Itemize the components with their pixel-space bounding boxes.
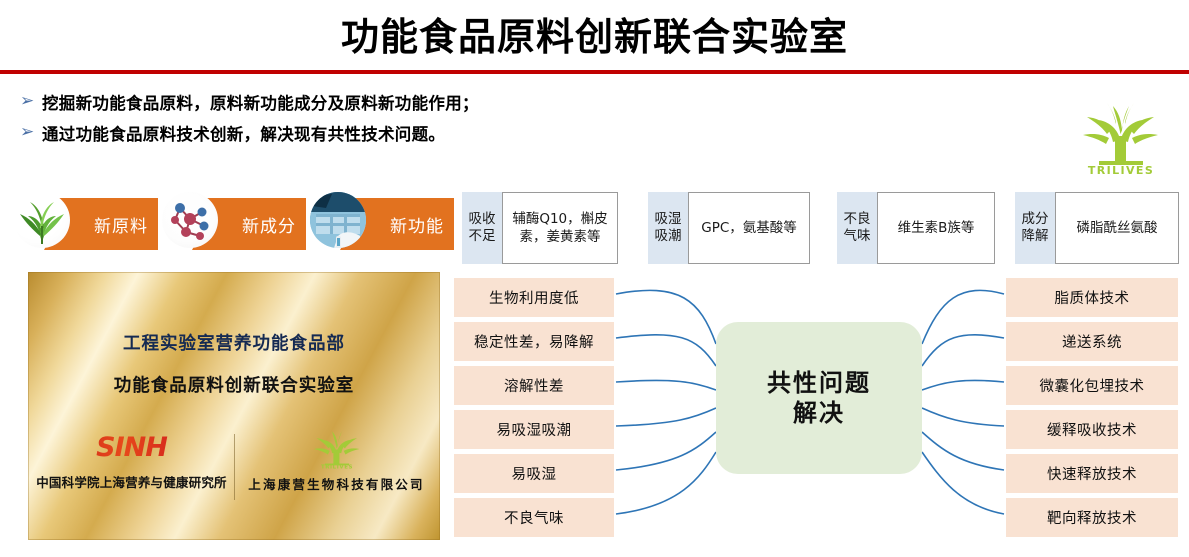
issue-box-absorption: 吸收不足 辅酶Q10，槲皮素，姜黄素等: [462, 192, 618, 264]
trilives-wordmark: TRILIVES: [1088, 164, 1154, 176]
solution-pill[interactable]: 快速释放技术: [1006, 454, 1178, 493]
solution-pill[interactable]: 微囊化包埋技术: [1006, 366, 1178, 405]
center-node-line-1: 共性问题: [767, 368, 871, 398]
issue-label: 不良气味: [837, 192, 877, 264]
problem-pill[interactable]: 稳定性差，易降解: [454, 322, 614, 361]
solution-pill[interactable]: 缓释吸收技术: [1006, 410, 1178, 449]
issue-label: 成分降解: [1015, 192, 1055, 264]
solution-pill[interactable]: 靶向释放技术: [1006, 498, 1178, 537]
center-node-line-2: 解决: [793, 398, 845, 428]
bullet-text: 挖掘新功能食品原料，原料新功能成分及原料新功能作用；: [42, 90, 479, 114]
trilives-tree-logo: TRILIVES: [1073, 100, 1169, 176]
issue-value: 磷脂酰丝氨酸: [1055, 192, 1179, 264]
issue-value: 辅酶Q10，槲皮素，姜黄素等: [502, 192, 618, 264]
problem-pill[interactable]: 不良气味: [454, 498, 614, 537]
issue-label: 吸收不足: [462, 192, 502, 264]
problem-pill[interactable]: 溶解性差: [454, 366, 614, 405]
org-name: 上海康营生物科技有限公司: [239, 474, 435, 493]
center-node[interactable]: 共性问题 解决: [716, 322, 922, 474]
laboratory-icon: [310, 192, 366, 248]
title-divider-rule: [0, 70, 1189, 74]
chevron-right-icon: ➢: [20, 124, 42, 141]
page-title: 功能食品原料创新联合实验室: [0, 6, 1189, 61]
problem-pill[interactable]: 易吸湿吸潮: [454, 410, 614, 449]
plaque-organizations: SINH 中国科学院上海营养与健康研究所: [28, 430, 440, 520]
trilives-wordmark: TRILIVES: [320, 464, 352, 469]
plaque-divider: [234, 434, 235, 500]
solution-pill[interactable]: 递送系统: [1006, 322, 1178, 361]
banner-new-ingredient[interactable]: 新成分: [162, 192, 310, 256]
laboratory-plaque: 工程实验室营养功能食品部 功能食品原料创新联合实验室 SINH 中国科学院上海营…: [28, 272, 440, 540]
molecule-icon: [162, 192, 218, 248]
banner-new-function[interactable]: 新功能: [310, 192, 458, 256]
org-trilives: TRILIVES 上海康营生物科技有限公司: [239, 430, 435, 493]
org-name: 中国科学院上海营养与健康研究所: [34, 472, 230, 491]
issue-value: GPC，氨基酸等: [688, 192, 810, 264]
problem-pill[interactable]: 易吸湿: [454, 454, 614, 493]
solution-pill[interactable]: 脂质体技术: [1006, 278, 1178, 317]
issue-box-hygroscopic: 吸湿吸潮 GPC，氨基酸等: [648, 192, 810, 264]
issue-box-degradation: 成分降解 磷脂酰丝氨酸: [1015, 192, 1179, 264]
issue-box-odor: 不良气味 维生素B族等: [837, 192, 995, 264]
bullet-text: 通过功能食品原料技术创新，解决现有共性技术问题。: [42, 121, 445, 145]
problem-pill[interactable]: 生物利用度低: [454, 278, 614, 317]
leaf-icon: [14, 192, 70, 248]
category-banner-row: 新原料 新成分: [14, 192, 454, 256]
issue-value: 维生素B族等: [877, 192, 995, 264]
plaque-department-title: 工程实验室营养功能食品部: [28, 330, 440, 355]
bullet-item: ➢ 挖掘新功能食品原料，原料新功能成分及原料新功能作用；: [20, 86, 840, 117]
org-sinh: SINH 中国科学院上海营养与健康研究所: [34, 430, 230, 491]
issue-label: 吸湿吸潮: [648, 192, 688, 264]
chevron-right-icon: ➢: [20, 93, 42, 110]
trilives-tree-logo: TRILIVES: [239, 430, 435, 468]
plaque-lab-title: 功能食品原料创新联合实验室: [28, 372, 440, 397]
bullet-item: ➢ 通过功能食品原料技术创新，解决现有共性技术问题。: [20, 117, 840, 148]
banner-new-material[interactable]: 新原料: [14, 192, 162, 256]
bullet-list: ➢ 挖掘新功能食品原料，原料新功能成分及原料新功能作用； ➢ 通过功能食品原料技…: [20, 86, 840, 148]
sinh-logo: SINH: [34, 430, 230, 466]
